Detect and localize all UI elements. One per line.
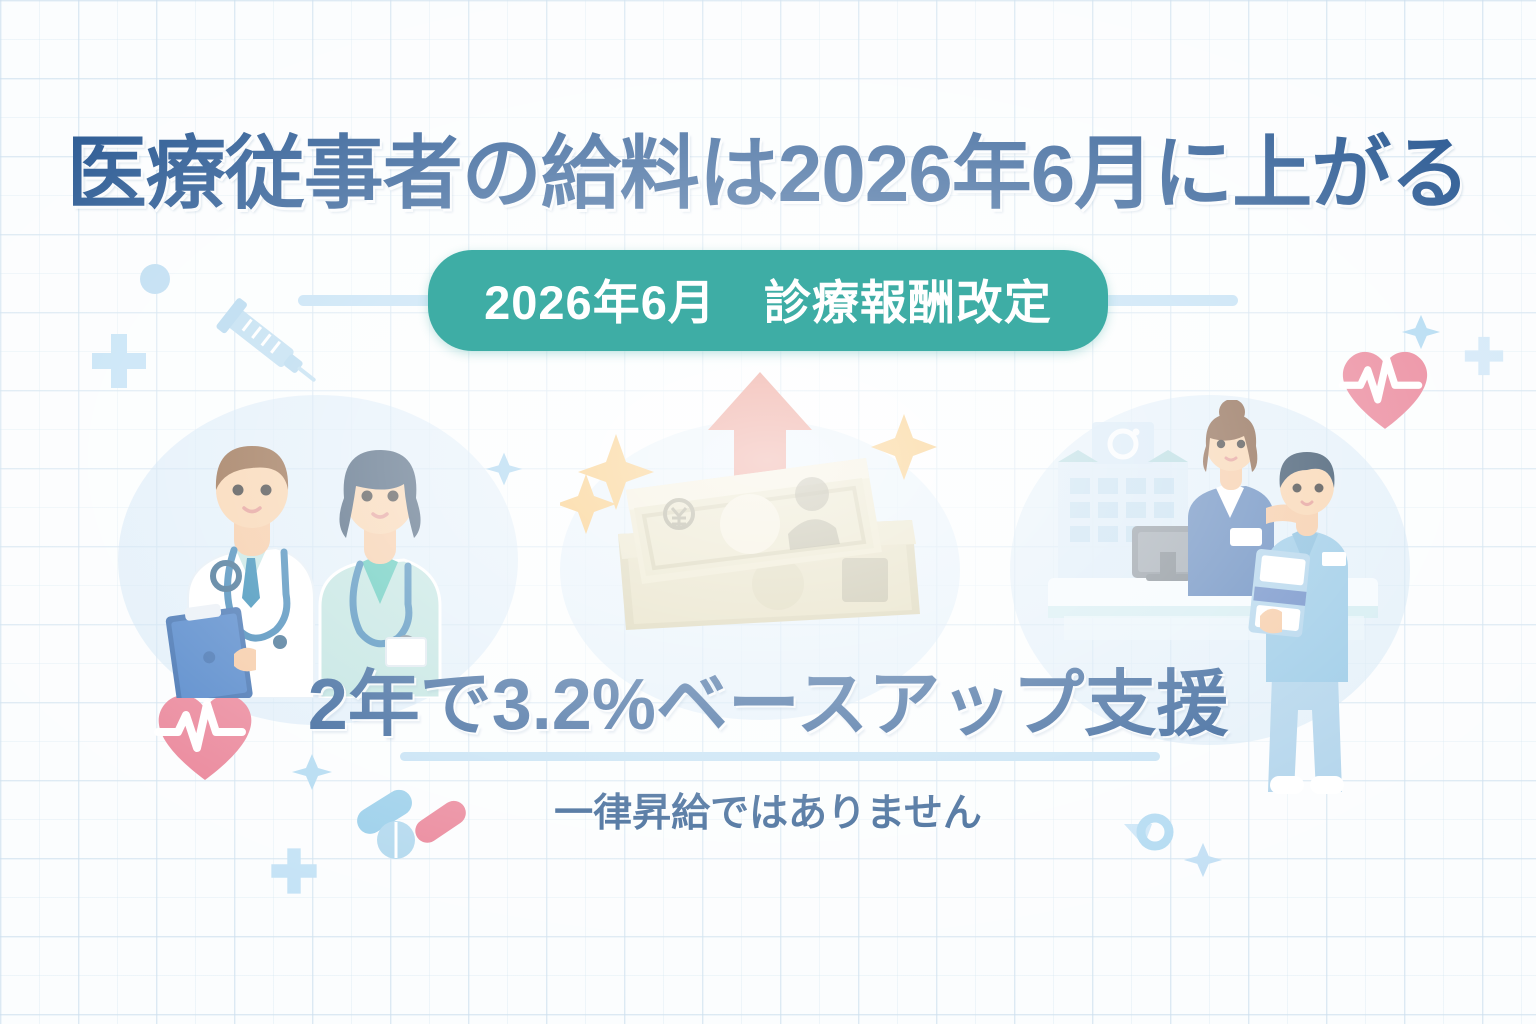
sub-headline-underline [400, 752, 1160, 761]
sub-headline: 2年で3.2%ベースアップ支援 [0, 664, 1536, 746]
sparkle-blue [1182, 840, 1224, 880]
sparkle-orange [871, 414, 937, 480]
doctor-and-nurse-illustration [148, 398, 508, 698]
money-stack-illustration [560, 362, 960, 662]
badge-row: 2026年6月 診療報酬改定 [0, 250, 1536, 351]
nurse-figure [320, 450, 440, 698]
badge-rule-left [298, 295, 438, 306]
badge-rule-right [1098, 295, 1238, 306]
doctor-figure [164, 446, 314, 698]
status-badge: 2026年6月 診療報酬改定 [428, 250, 1108, 351]
banner-canvas: 医療従事者の給料は2026年6月に上がる 2026年6月 診療報酬改定 2年で3… [0, 0, 1536, 1024]
disclaimer-caption: 一律昇給ではありません [0, 782, 1536, 838]
cross-icon [268, 845, 320, 897]
up-arrow-icon [708, 372, 812, 482]
page-title: 医療従事者の給料は2026年6月に上がる [0, 128, 1536, 220]
